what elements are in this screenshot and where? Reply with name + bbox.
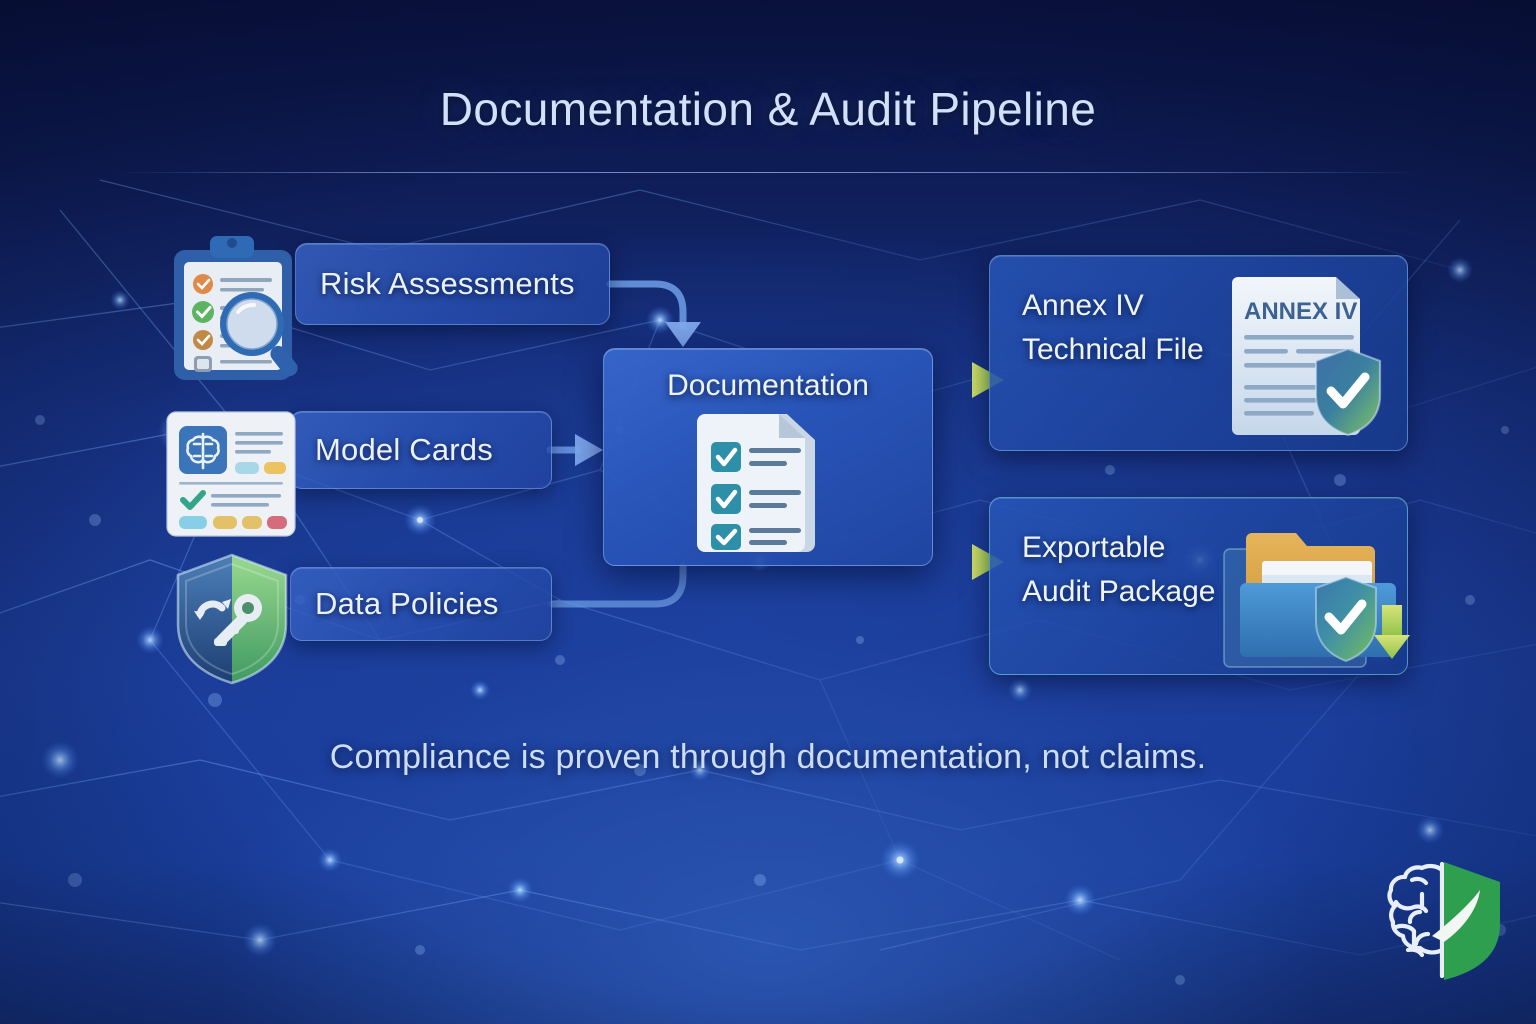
annex-document-shield-icon: ANNEX IV xyxy=(1232,273,1402,443)
model-card-icon xyxy=(163,408,299,540)
diagram-canvas: Documentation & Audit Pipeline xyxy=(0,0,1536,1024)
output-label-annex-iv: Annex IV Technical File xyxy=(1022,284,1204,372)
output-label-audit-package: Exportable Audit Package xyxy=(1022,526,1215,614)
caption-text: Compliance is proven through documentati… xyxy=(0,738,1536,777)
input-label-model-cards: Model Cards xyxy=(291,432,493,468)
input-node-risk-assessments[interactable]: Risk Assessments xyxy=(295,243,610,325)
connector-modelcards-to-documentation xyxy=(550,434,603,466)
shield-key-icon xyxy=(170,552,294,686)
folder-shield-download-icon xyxy=(1228,527,1410,671)
input-label-risk-assessments: Risk Assessments xyxy=(296,266,575,302)
connector-datapolicies-to-documentation xyxy=(552,566,683,604)
annex-doc-label: ANNEX IV xyxy=(1244,298,1357,325)
input-node-data-policies[interactable]: Data Policies xyxy=(290,567,552,641)
output-label-annex-iv-line2: Technical File xyxy=(1022,328,1204,372)
output-label-annex-iv-line1: Annex IV xyxy=(1022,284,1204,328)
document-checklist-icon xyxy=(697,408,829,554)
clipboard-magnifier-icon xyxy=(168,232,318,384)
center-node-label: Documentation xyxy=(604,369,932,403)
input-node-model-cards[interactable]: Model Cards xyxy=(290,411,552,489)
brain-shield-logo xyxy=(1374,850,1514,990)
output-label-audit-package-line1: Exportable xyxy=(1022,526,1215,570)
output-label-audit-package-line2: Audit Package xyxy=(1022,570,1215,614)
input-label-data-policies: Data Policies xyxy=(291,586,499,622)
connector-risk-to-documentation xyxy=(610,284,701,347)
